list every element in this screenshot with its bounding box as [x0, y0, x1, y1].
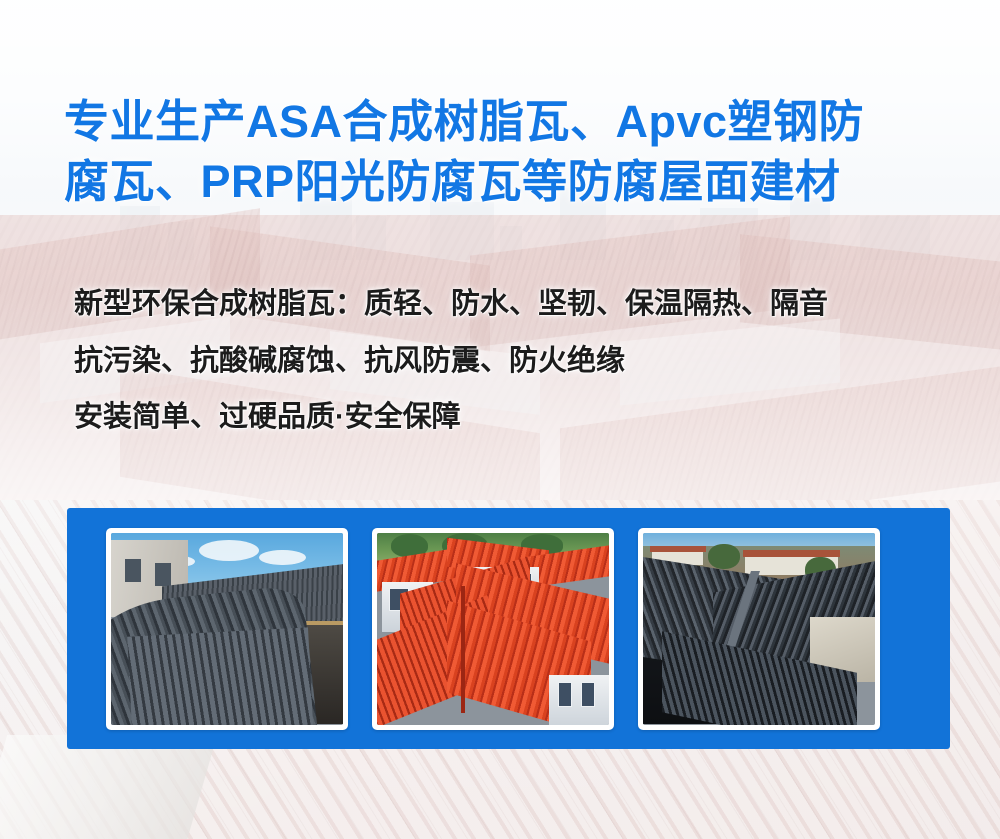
headline-line-2: 腐瓦、PRP阳光防腐瓦等防腐屋面建材: [64, 152, 944, 212]
photo3-tree: [708, 544, 740, 569]
photo-gallery-panel: [67, 508, 950, 749]
subtitle-line-1: 新型环保合成树脂瓦：质轻、防水、坚韧、保温隔热、隔音: [74, 276, 964, 333]
subtitle: 新型环保合成树脂瓦：质轻、防水、坚韧、保温隔热、隔音 抗污染、抗酸碱腐蚀、抗风防…: [74, 276, 964, 446]
photo-card-3[interactable]: [638, 528, 880, 730]
roof-photo-grey-tile: [111, 533, 343, 725]
roof-photo-dark-resin: [643, 533, 875, 725]
promo-banner: 专业生产ASA合成树脂瓦、Apvc塑钢防 腐瓦、PRP阳光防腐瓦等防腐屋面建材 …: [0, 0, 1000, 839]
photo2-window: [558, 682, 572, 707]
photo1-window: [155, 563, 171, 586]
photo2-ridge: [461, 586, 466, 713]
photo1-cloud: [259, 550, 305, 565]
photo1-main-roof-lower: [127, 628, 314, 725]
photo2-window: [581, 682, 595, 707]
bottom-gutter-shape: [0, 735, 217, 839]
headline-line-1: 专业生产ASA合成树脂瓦、Apvc塑钢防: [64, 92, 944, 152]
subtitle-line-3: 安装简单、过硬品质·安全保障: [74, 389, 964, 446]
photo3-building-roof: [743, 550, 840, 558]
roof-photo-red-tile: [377, 533, 609, 725]
photo-card-1[interactable]: [106, 528, 348, 730]
photo3-building-roof: [650, 546, 706, 552]
photo1-window: [125, 559, 141, 582]
photo-card-2[interactable]: [372, 528, 614, 730]
headline: 专业生产ASA合成树脂瓦、Apvc塑钢防 腐瓦、PRP阳光防腐瓦等防腐屋面建材: [64, 92, 944, 212]
subtitle-line-2: 抗污染、抗酸碱腐蚀、抗风防震、防火绝缘: [74, 333, 964, 390]
